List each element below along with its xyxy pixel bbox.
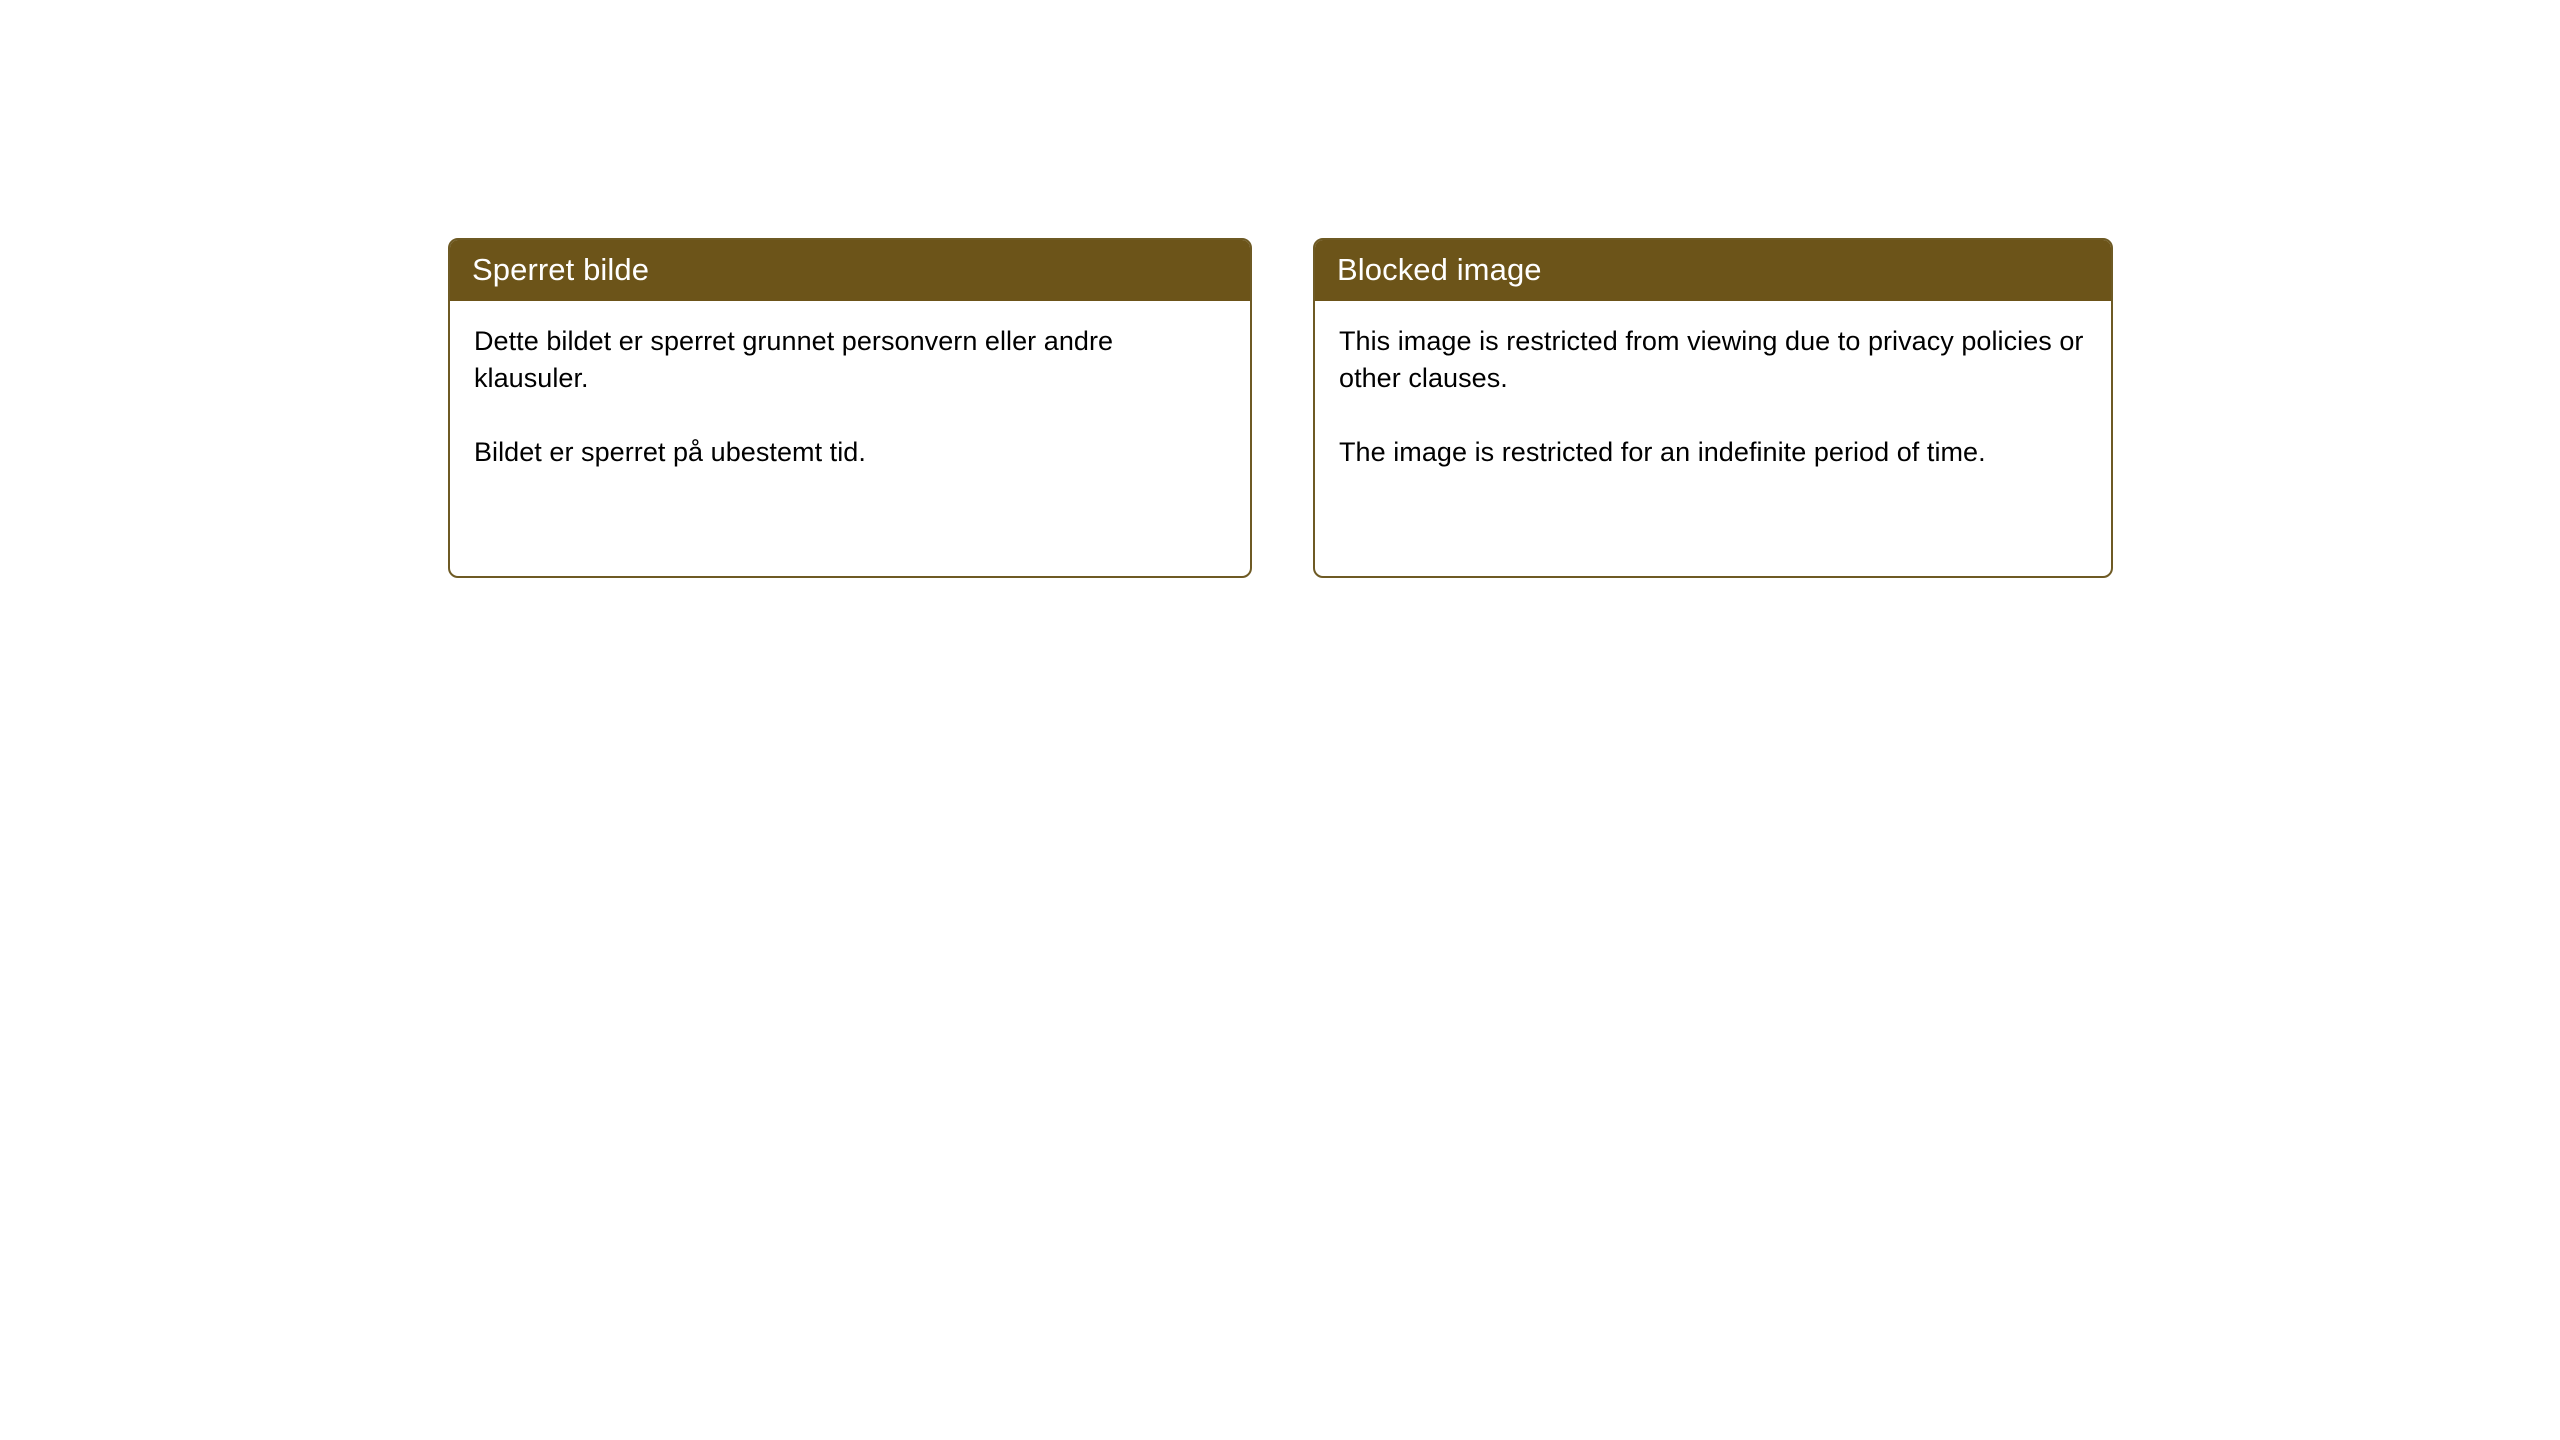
card-title-norwegian: Sperret bilde xyxy=(472,254,649,285)
card-paragraph-reason-norwegian: Dette bildet er sperret grunnet personve… xyxy=(474,323,1226,397)
card-title-english: Blocked image xyxy=(1337,254,1542,285)
card-body-english: This image is restricted from viewing du… xyxy=(1315,301,2111,576)
blocked-image-card-english: Blocked image This image is restricted f… xyxy=(1313,238,2113,578)
card-paragraph-duration-norwegian: Bildet er sperret på ubestemt tid. xyxy=(474,434,1226,471)
card-paragraph-reason-english: This image is restricted from viewing du… xyxy=(1339,323,2087,397)
card-paragraph-duration-english: The image is restricted for an indefinit… xyxy=(1339,434,2087,471)
card-header-norwegian: Sperret bilde xyxy=(448,238,1252,301)
blocked-image-card-norwegian: Sperret bilde Dette bildet er sperret gr… xyxy=(448,238,1252,578)
blocked-image-notice-board: Sperret bilde Dette bildet er sperret gr… xyxy=(448,238,2113,578)
card-body-norwegian: Dette bildet er sperret grunnet personve… xyxy=(450,301,1250,576)
card-header-english: Blocked image xyxy=(1313,238,2113,301)
